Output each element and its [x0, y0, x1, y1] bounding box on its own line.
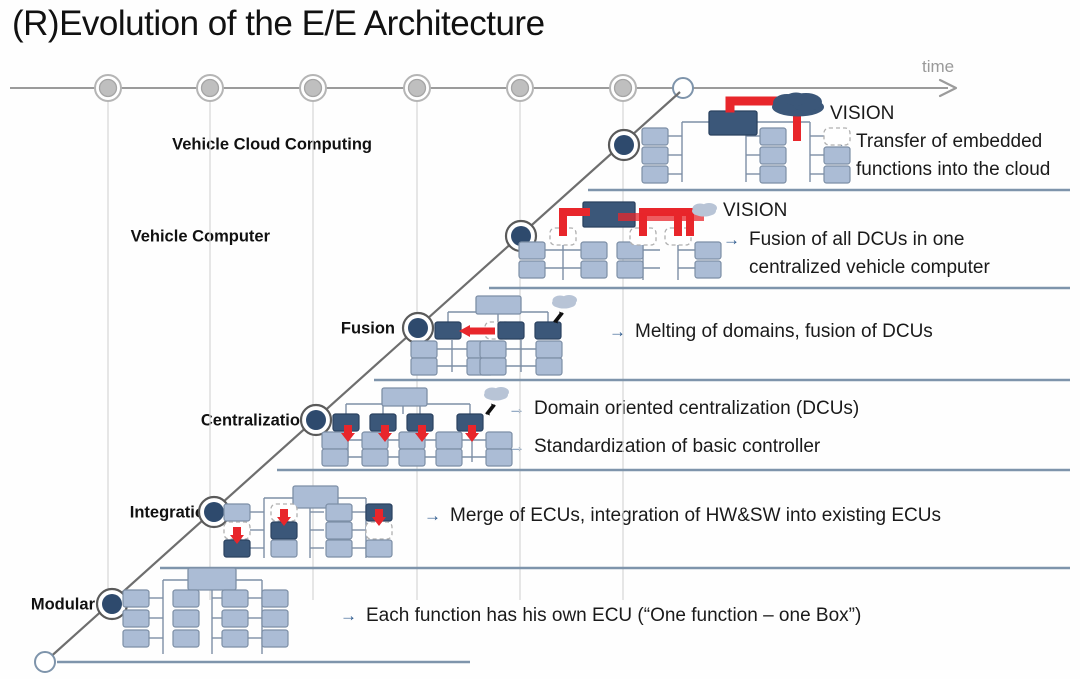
central-computer-box — [709, 111, 757, 135]
timeline-tick-4 — [404, 75, 430, 101]
architecture-diagram-vehicle-computer — [519, 202, 721, 280]
backbone-box-fusion — [476, 296, 521, 314]
backbone-box-modular — [188, 568, 236, 590]
architecture-diagram-modular — [123, 568, 288, 654]
timeline-tick-6 — [610, 75, 636, 101]
timeline-tick-5 — [507, 75, 533, 101]
timeline-tick-2 — [197, 75, 223, 101]
timeline-tick-1 — [95, 75, 121, 101]
red-route-to-cloud — [618, 213, 700, 217]
architecture-diagram-fusion — [411, 295, 577, 375]
stage-node-fusion[interactable] — [403, 313, 433, 343]
timeline-endpoint-bottom — [35, 652, 55, 672]
backbone-box-centralization — [382, 388, 427, 406]
stage-node-vehicle-cloud-computing[interactable] — [609, 130, 639, 160]
timeline-tick-3 — [300, 75, 326, 101]
stage-node-centralization[interactable] — [301, 405, 331, 435]
cloud-light-icon-row2 — [692, 203, 717, 217]
wifi-icon-row4 — [486, 404, 495, 416]
architecture-diagram-integration — [224, 486, 392, 558]
cloud-light-icon-row4 — [484, 387, 509, 401]
diagram-graphics — [0, 0, 1080, 679]
architecture-diagram-centralization — [322, 387, 512, 466]
evolution-diagonal-line — [47, 92, 680, 660]
slide-canvas: (R)Evolution of the E/E Architecture tim… — [0, 0, 1080, 679]
cloud-light-icon-row3 — [552, 295, 577, 309]
time-axis — [10, 80, 956, 96]
architecture-diagram-cloud — [642, 93, 850, 184]
cloud-dark-icon — [772, 93, 824, 117]
